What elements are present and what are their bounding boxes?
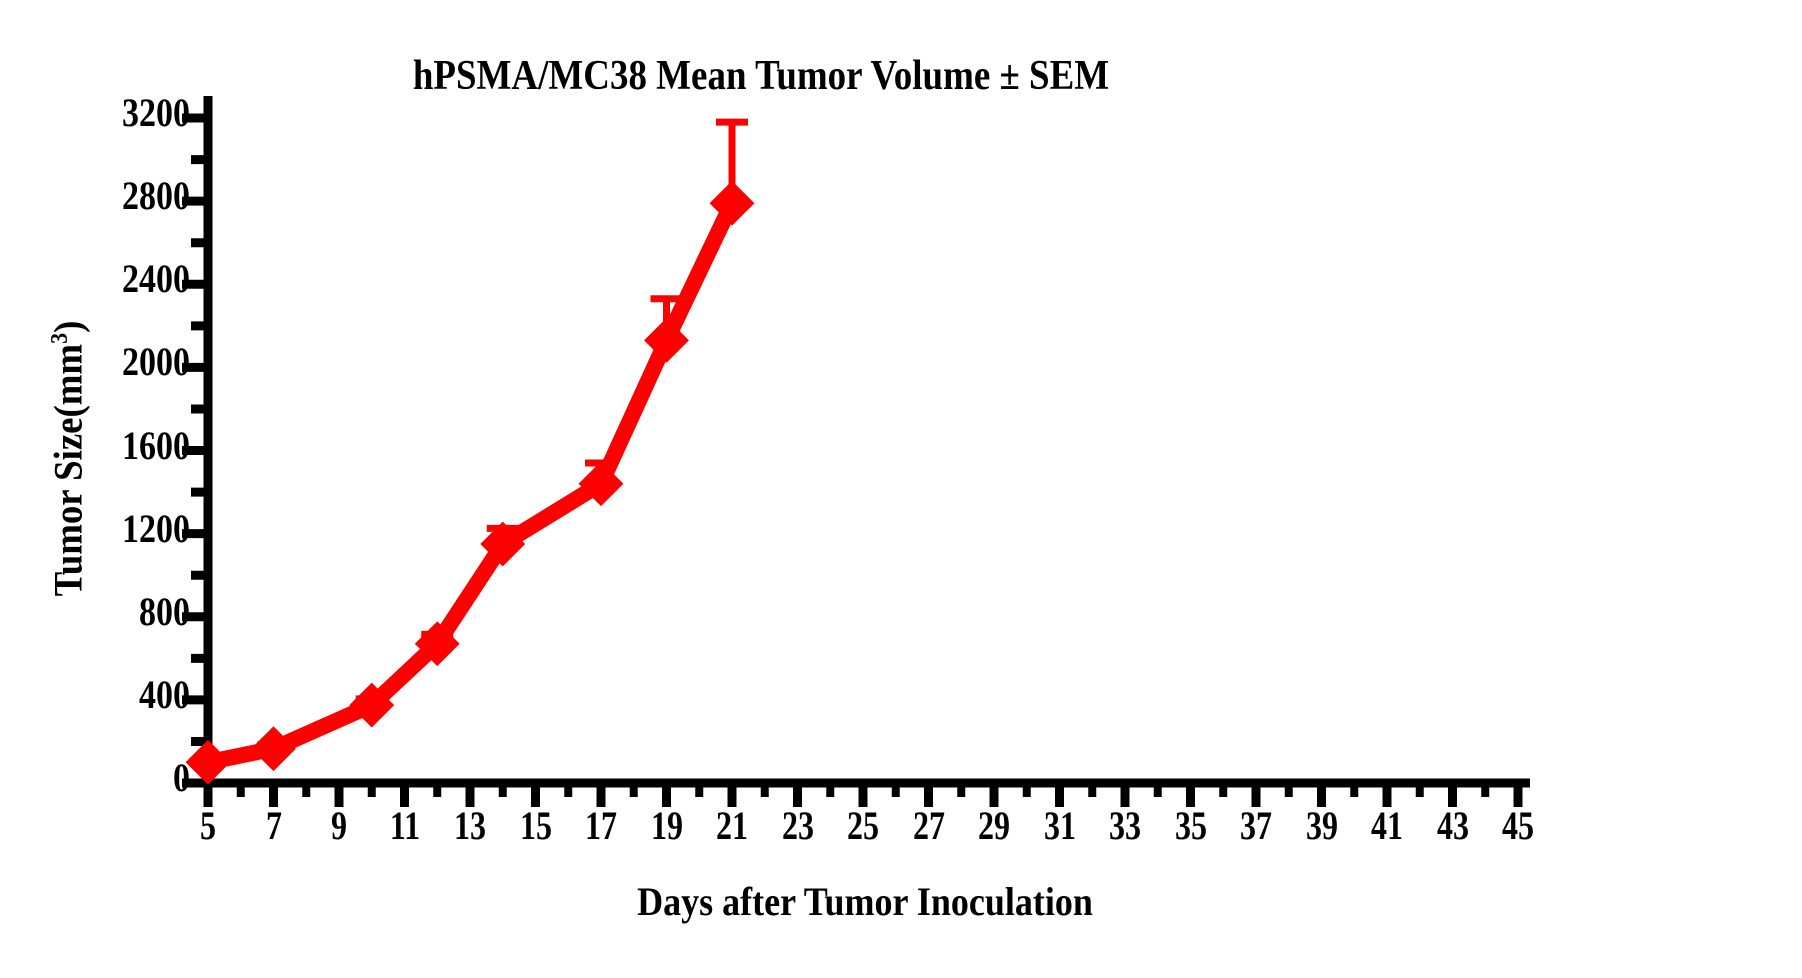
data-line: [208, 203, 732, 762]
plot-canvas: [0, 0, 1802, 978]
data-series-group: [187, 122, 753, 783]
data-point-marker[interactable]: [187, 741, 229, 783]
chart-figure: hPSMA/MC38 Mean Tumor Volume ± SEM Tumor…: [0, 0, 1802, 978]
